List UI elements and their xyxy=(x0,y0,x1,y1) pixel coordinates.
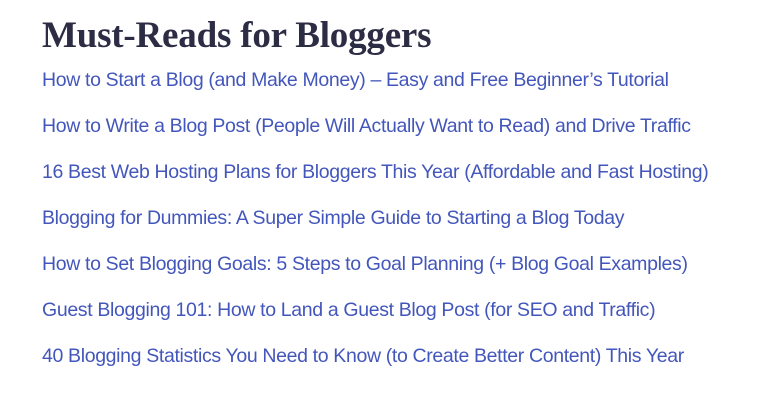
post-link-3[interactable]: 16 Best Web Hosting Plans for Bloggers T… xyxy=(42,161,708,184)
list-item: How to Set Blogging Goals: 5 Steps to Go… xyxy=(42,242,738,288)
post-link-7[interactable]: 40 Blogging Statistics You Need to Know … xyxy=(42,345,684,368)
post-link-2[interactable]: How to Write a Blog Post (People Will Ac… xyxy=(42,115,691,138)
list-item: 16 Best Web Hosting Plans for Bloggers T… xyxy=(42,150,738,196)
post-link-4[interactable]: Blogging for Dummies: A Super Simple Gui… xyxy=(42,207,624,230)
post-link-1[interactable]: How to Start a Blog (and Make Money) – E… xyxy=(42,69,669,92)
post-link-list: How to Start a Blog (and Make Money) – E… xyxy=(42,58,738,380)
must-reads-widget: Must-Reads for Bloggers How to Start a B… xyxy=(0,0,768,405)
list-item: Guest Blogging 101: How to Land a Guest … xyxy=(42,288,738,334)
list-item: 40 Blogging Statistics You Need to Know … xyxy=(42,334,738,380)
post-link-5[interactable]: How to Set Blogging Goals: 5 Steps to Go… xyxy=(42,253,688,276)
page-title: Must-Reads for Bloggers xyxy=(42,0,738,58)
list-item: How to Write a Blog Post (People Will Ac… xyxy=(42,104,738,150)
post-link-6[interactable]: Guest Blogging 101: How to Land a Guest … xyxy=(42,299,655,322)
list-item: How to Start a Blog (and Make Money) – E… xyxy=(42,58,738,104)
list-item: Blogging for Dummies: A Super Simple Gui… xyxy=(42,196,738,242)
